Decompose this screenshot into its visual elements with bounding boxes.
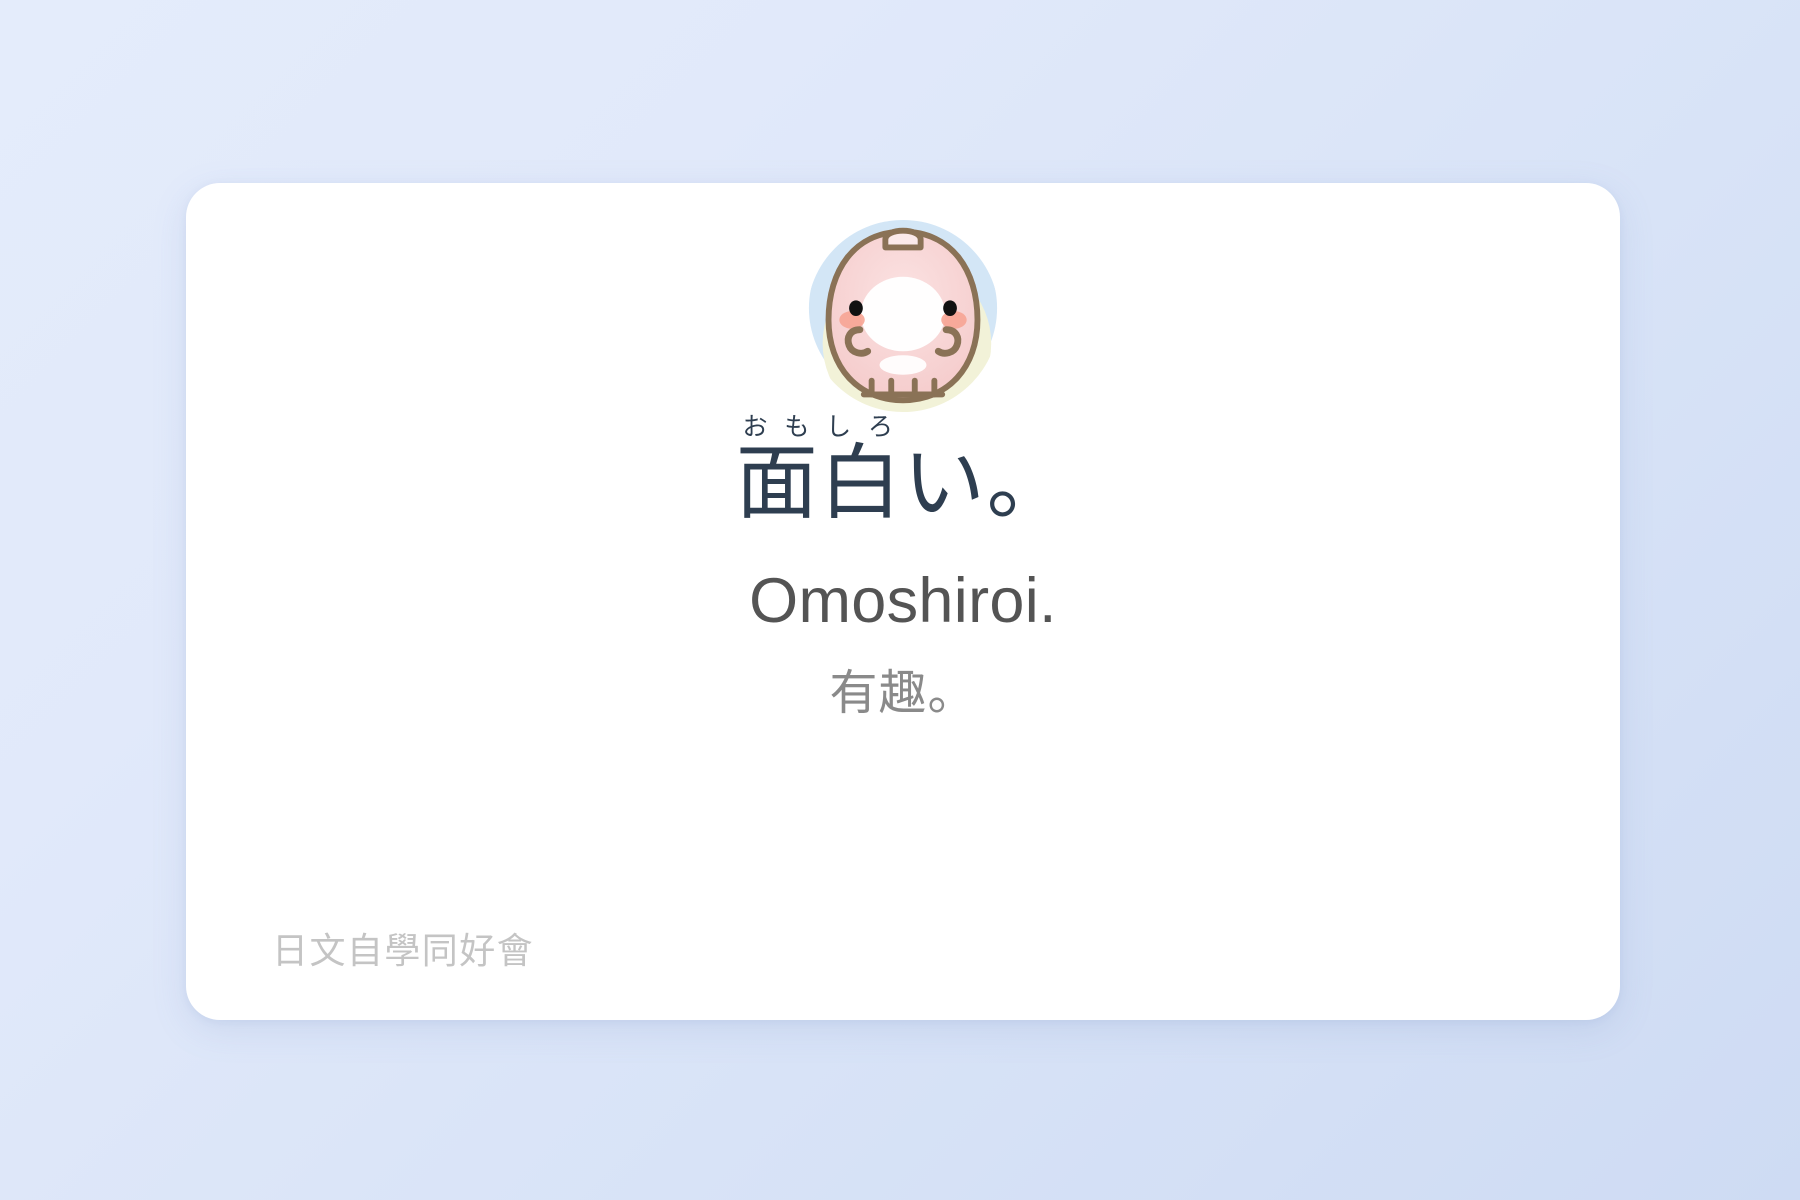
term-okurigana: い — [903, 436, 987, 531]
mascot-eye-left — [849, 300, 863, 316]
japanese-term: 面白おもしろい。 — [186, 413, 1620, 535]
term-ruby: 面白おもしろ — [736, 436, 903, 531]
term-furigana: おもしろ — [736, 412, 903, 441]
mascot-container — [186, 218, 1620, 414]
mascot-top-loop — [885, 231, 920, 248]
term-punctuation: 。 — [987, 436, 1071, 531]
mascot-belly — [861, 277, 945, 351]
translation-text: 有趣。 — [186, 653, 1620, 723]
term-kanji: 面白 — [736, 436, 903, 531]
mascot-eye-right — [943, 300, 957, 316]
pink-blob-mascot-avatar — [805, 218, 1001, 414]
footer-brand: 日文自學同好會 — [272, 922, 534, 974]
page-background: 面白おもしろい。 Omoshiroi. 有趣。 日文自學同好會 — [0, 0, 1800, 1200]
romaji-text: Omoshiroi. — [186, 565, 1620, 637]
mascot-lower-patch — [879, 355, 926, 375]
flashcard[interactable]: 面白おもしろい。 Omoshiroi. 有趣。 日文自學同好會 — [186, 183, 1620, 1020]
